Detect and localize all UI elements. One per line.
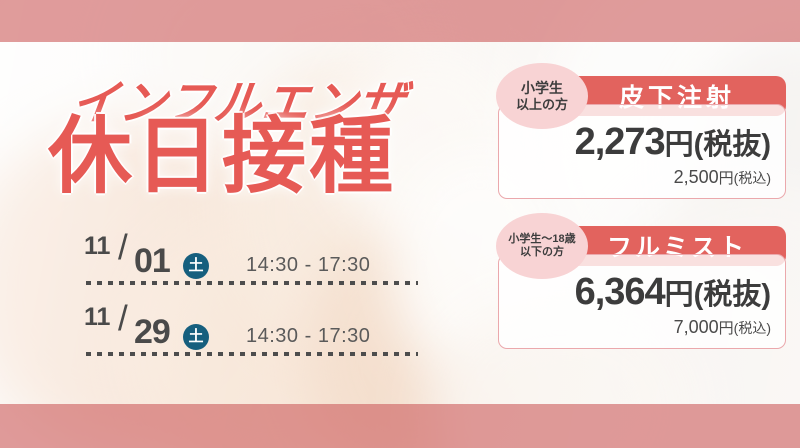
price-excl-amount: 2,273 xyxy=(575,121,665,163)
price-incl-amount: 7,000 xyxy=(674,317,719,337)
price-incl-amount: 2,500 xyxy=(674,167,719,187)
row-divider xyxy=(86,281,418,285)
price-excl-yen-unit: 円 xyxy=(665,129,694,161)
price-excl-tax-note: (税抜) xyxy=(694,279,771,311)
price-incl-yen-unit: 円 xyxy=(719,170,734,187)
price-including-tax: 2,500円(税込) xyxy=(513,167,771,188)
headline-and-schedule-block: インフルエンザ 休日接種 11 / 01 土 14:30 - 17:30 11 … xyxy=(0,42,455,404)
day-of-week-badge: 土 xyxy=(183,324,209,350)
date-day: 29 xyxy=(134,313,170,352)
day-of-week-badge: 土 xyxy=(183,253,209,279)
row-divider xyxy=(86,352,418,356)
audience-line-2: 以下の方 xyxy=(520,246,564,259)
price-incl-yen-unit: 円 xyxy=(719,320,734,337)
price-excl-tax-note: (税抜) xyxy=(694,129,771,161)
date-slash: / xyxy=(118,228,128,268)
date-month: 11 xyxy=(84,232,110,261)
price-including-tax: 7,000円(税込) xyxy=(513,317,771,338)
price-excluding-tax: 2,273円(税抜) xyxy=(513,123,771,161)
date-day: 01 xyxy=(134,242,170,281)
price-card-flumist: 小学生〜18歳 以下の方 フルミスト 6,364円(税抜) 7,000円(税込) xyxy=(498,226,786,349)
influenza-vaccination-banner: インフルエンザ 休日接種 11 / 01 土 14:30 - 17:30 11 … xyxy=(0,0,800,448)
audience-line-1: 小学生〜18歳 xyxy=(508,233,575,246)
price-incl-tax-note: (税込) xyxy=(734,170,771,186)
audience-line-2: 以上の方 xyxy=(516,97,568,112)
price-excl-amount: 6,364 xyxy=(575,271,665,313)
price-incl-tax-note: (税込) xyxy=(734,320,771,336)
top-accent-band xyxy=(0,0,800,42)
date-display: 11 / 29 土 xyxy=(84,302,196,352)
schedule-row: 11 / 29 土 14:30 - 17:30 xyxy=(84,299,419,352)
audience-line-1: 小学生 xyxy=(521,80,563,97)
price-card-subcutaneous: 小学生 以上の方 皮下注射 2,273円(税抜) 2,500円(税込) xyxy=(498,76,786,199)
time-range: 14:30 - 17:30 xyxy=(246,254,370,277)
time-range: 14:30 - 17:30 xyxy=(246,325,370,348)
audience-badge: 小学生 以上の方 xyxy=(496,63,588,129)
date-display: 11 / 01 土 xyxy=(84,231,196,281)
schedule-list: 11 / 01 土 14:30 - 17:30 11 / 29 土 14:30 … xyxy=(84,228,419,352)
bottom-accent-band xyxy=(0,404,800,448)
page-title-kanji: 休日接種 xyxy=(48,114,396,198)
price-excluding-tax: 6,364円(税抜) xyxy=(513,273,771,311)
price-excl-yen-unit: 円 xyxy=(665,279,694,311)
audience-badge: 小学生〜18歳 以下の方 xyxy=(496,213,588,279)
date-slash: / xyxy=(118,299,128,339)
schedule-row: 11 / 01 土 14:30 - 17:30 xyxy=(84,228,419,281)
date-month: 11 xyxy=(84,303,110,332)
